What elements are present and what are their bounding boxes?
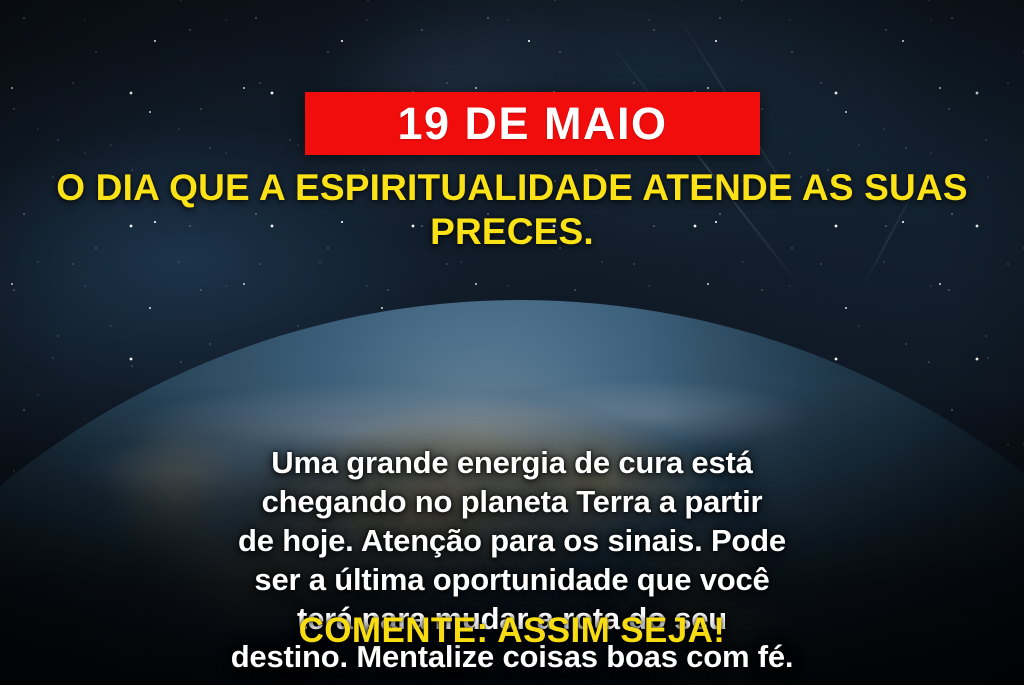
body-line-3: de hoje. Atenção para os sinais. Pode: [48, 522, 976, 561]
poster-canvas: 19 DE MAIO O DIA QUE A ESPIRITUALIDADE A…: [0, 0, 1024, 685]
body-line-4: ser a última oportunidade que você: [48, 561, 976, 600]
headline: O DIA QUE A ESPIRITUALIDADE ATENDE AS SU…: [0, 166, 1024, 254]
headline-line-1: O DIA QUE A ESPIRITUALIDADE: [56, 167, 633, 208]
body-line-2: chegando no planeta Terra a partir: [48, 483, 976, 522]
call-to-action: COMENTE: ASSIM SEJA!: [0, 612, 1024, 651]
date-badge: 19 DE MAIO: [305, 92, 760, 155]
poster-content: 19 DE MAIO O DIA QUE A ESPIRITUALIDADE A…: [0, 0, 1024, 685]
body-line-1: Uma grande energia de cura está: [48, 444, 976, 483]
date-badge-label: 19 DE MAIO: [397, 101, 667, 146]
cta-label: COMENTE: ASSIM SEJA!: [299, 611, 726, 650]
